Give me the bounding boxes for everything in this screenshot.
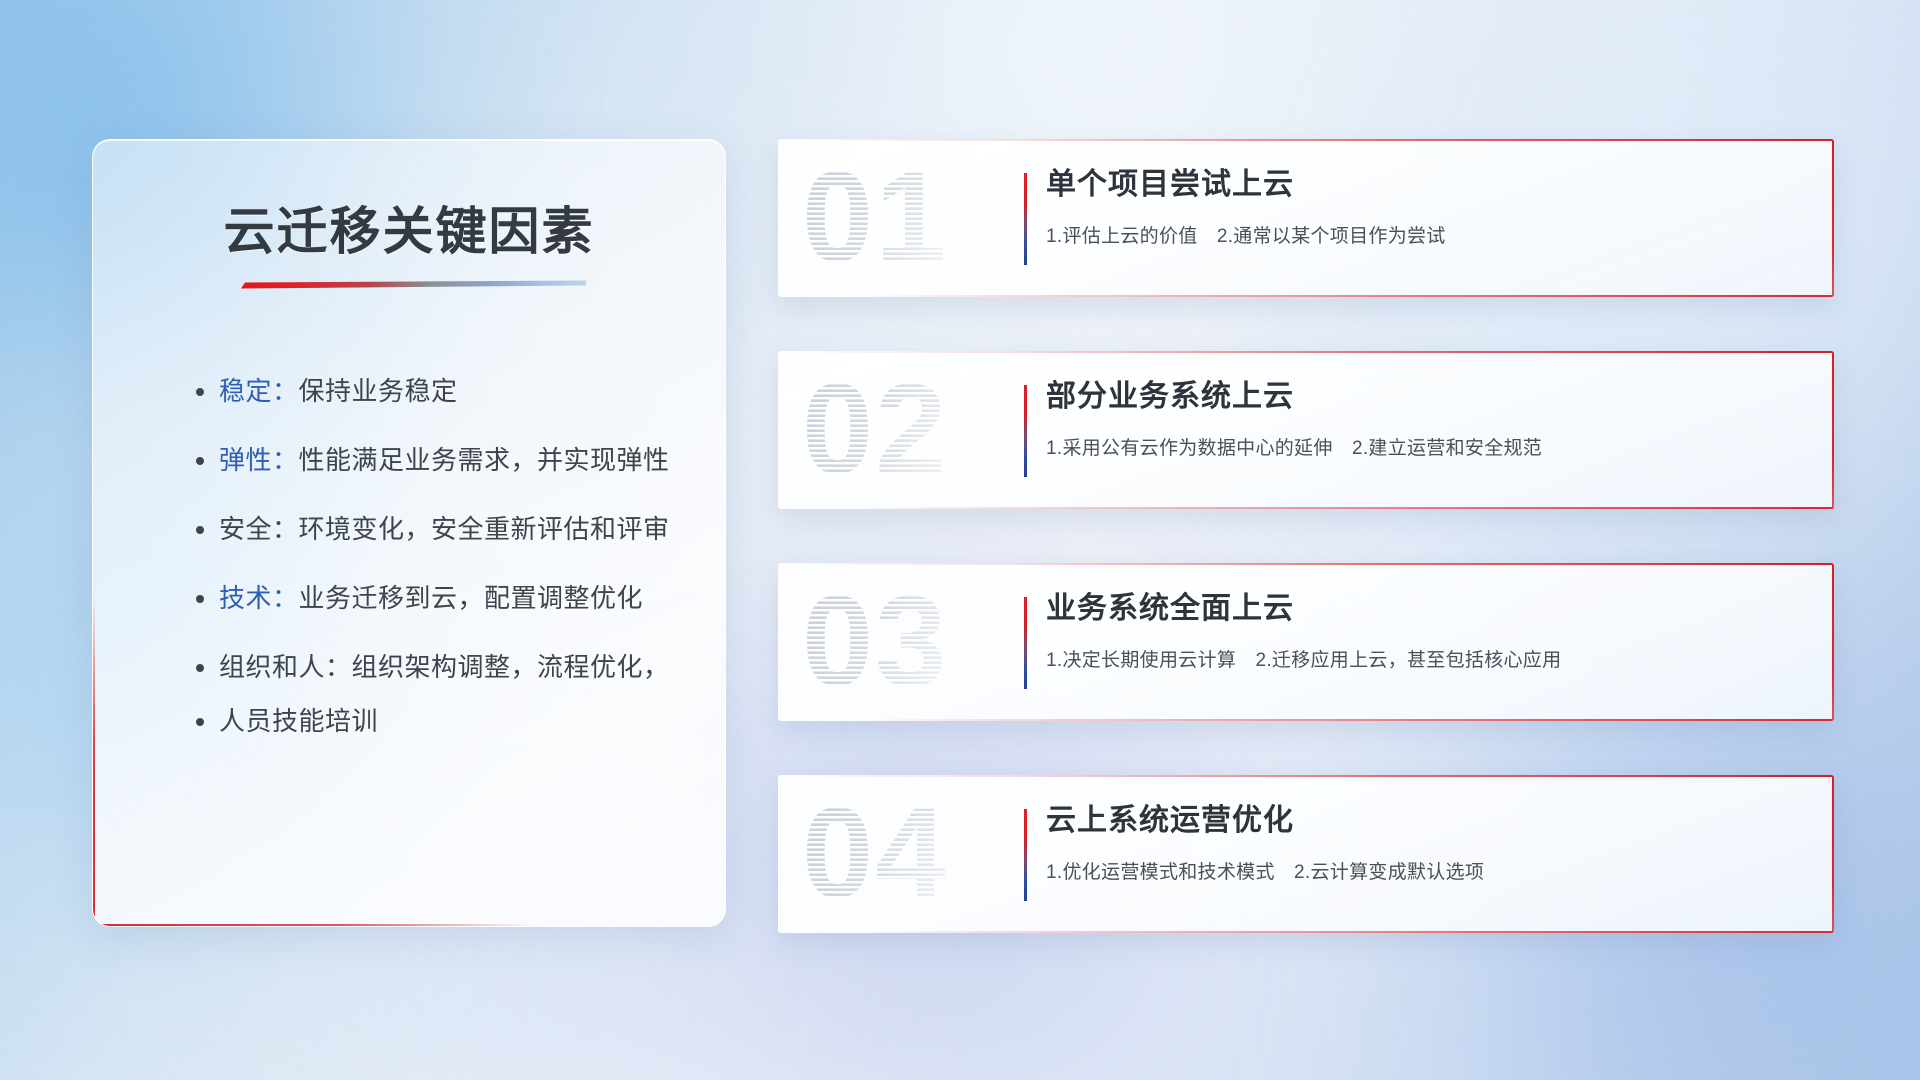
card-number-watermark: 0101 xyxy=(800,139,1010,297)
key-factor-label: 技术： xyxy=(219,583,299,613)
card-number-watermark: 0202 xyxy=(800,351,1010,509)
key-factor-item: 弹性：性能满足业务需求，并实现弹性 xyxy=(219,447,685,473)
key-factor-text: 环境变化，安全重新评估和评审 xyxy=(299,514,670,544)
card-accent-bar xyxy=(1024,597,1027,689)
key-factor-item: 组织和人：组织架构调整，流程优化， xyxy=(219,654,685,680)
panel-left-accent-edge xyxy=(93,596,95,926)
key-factor-text: 组织架构调整，流程优化， xyxy=(352,652,670,682)
card-title: 业务系统全面上云 xyxy=(1046,591,1804,627)
key-factor-item: 技术：业务迁移到云，配置调整优化 xyxy=(219,585,685,611)
card-description: 1.决定长期使用云计算 2.迁移应用上云，甚至包括核心应用 xyxy=(1046,645,1804,672)
card-accent-bar xyxy=(1024,385,1027,477)
stage-card[interactable]: 0303业务系统全面上云1.决定长期使用云计算 2.迁移应用上云，甚至包括核心应… xyxy=(778,563,1834,721)
stage-card[interactable]: 0404云上系统运营优化1.优化运营模式和技术模式 2.云计算变成默认选项 xyxy=(778,775,1834,933)
key-factor-label: 稳定： xyxy=(219,376,299,406)
svg-text:04: 04 xyxy=(802,782,948,925)
card-accent-bar xyxy=(1024,809,1027,901)
key-factor-item: 安全：环境变化，安全重新评估和评审 xyxy=(219,516,685,542)
card-title: 部分业务系统上云 xyxy=(1046,379,1804,415)
card-border-right xyxy=(1832,775,1834,933)
stage-card[interactable]: 0101单个项目尝试上云1.评估上云的价值 2.通常以某个项目作为尝试 xyxy=(778,139,1834,297)
card-title: 单个项目尝试上云 xyxy=(1046,167,1804,203)
key-factor-label: 弹性： xyxy=(219,445,299,475)
card-border-left-fade xyxy=(778,351,780,509)
key-factors-list: 稳定：保持业务稳定弹性：性能满足业务需求，并实现弹性安全：环境变化，安全重新评估… xyxy=(219,378,685,734)
svg-text:02: 02 xyxy=(802,358,948,501)
card-border-left-fade xyxy=(778,563,780,721)
key-factor-item: 稳定：保持业务稳定 xyxy=(219,378,685,404)
key-factor-text: 性能满足业务需求，并实现弹性 xyxy=(299,445,670,475)
card-border-right xyxy=(1832,563,1834,721)
key-factor-label: 安全： xyxy=(219,514,299,544)
card-number-watermark: 0303 xyxy=(800,563,1010,721)
card-description: 1.优化运营模式和技术模式 2.云计算变成默认选项 xyxy=(1046,857,1804,884)
card-body: 云上系统运营优化1.优化运营模式和技术模式 2.云计算变成默认选项 xyxy=(1046,803,1804,884)
slide-stage: 云迁移关键因素 稳定：保持业务稳定弹性：性能满足业务需求，并 xyxy=(0,0,1920,1080)
card-number-watermark: 0404 xyxy=(800,775,1010,933)
key-factors-panel: 云迁移关键因素 稳定：保持业务稳定弹性：性能满足业务需求，并 xyxy=(92,139,726,927)
key-factor-text: 业务迁移到云，配置调整优化 xyxy=(299,583,644,613)
card-border-left-fade xyxy=(778,139,780,297)
card-body: 业务系统全面上云1.决定长期使用云计算 2.迁移应用上云，甚至包括核心应用 xyxy=(1046,591,1804,672)
card-description: 1.采用公有云作为数据中心的延伸 2.建立运营和安全规范 xyxy=(1046,433,1804,460)
svg-text:03: 03 xyxy=(802,570,948,713)
card-description: 1.评估上云的价值 2.通常以某个项目作为尝试 xyxy=(1046,221,1804,248)
key-factor-text: 保持业务稳定 xyxy=(299,376,458,406)
card-border-left-fade xyxy=(778,775,780,933)
key-factor-item: 人员技能培训 xyxy=(219,708,685,734)
card-title: 云上系统运营优化 xyxy=(1046,803,1804,839)
key-factor-text: 人员技能培训 xyxy=(219,706,378,736)
key-factor-label: 组织和人： xyxy=(219,652,352,682)
card-accent-bar xyxy=(1024,173,1027,265)
svg-text:01: 01 xyxy=(802,146,948,289)
page-title: 云迁移关键因素 xyxy=(93,190,725,264)
card-border-right xyxy=(1832,139,1834,297)
card-body: 单个项目尝试上云1.评估上云的价值 2.通常以某个项目作为尝试 xyxy=(1046,167,1804,248)
stage-card-list: 0101单个项目尝试上云1.评估上云的价值 2.通常以某个项目作为尝试0202部… xyxy=(778,139,1834,987)
stage-card[interactable]: 0202部分业务系统上云1.采用公有云作为数据中心的延伸 2.建立运营和安全规范 xyxy=(778,351,1834,509)
card-border-right xyxy=(1832,351,1834,509)
title-divider xyxy=(241,280,586,289)
card-body: 部分业务系统上云1.采用公有云作为数据中心的延伸 2.建立运营和安全规范 xyxy=(1046,379,1804,460)
panel-bottom-accent-edge xyxy=(93,924,535,926)
